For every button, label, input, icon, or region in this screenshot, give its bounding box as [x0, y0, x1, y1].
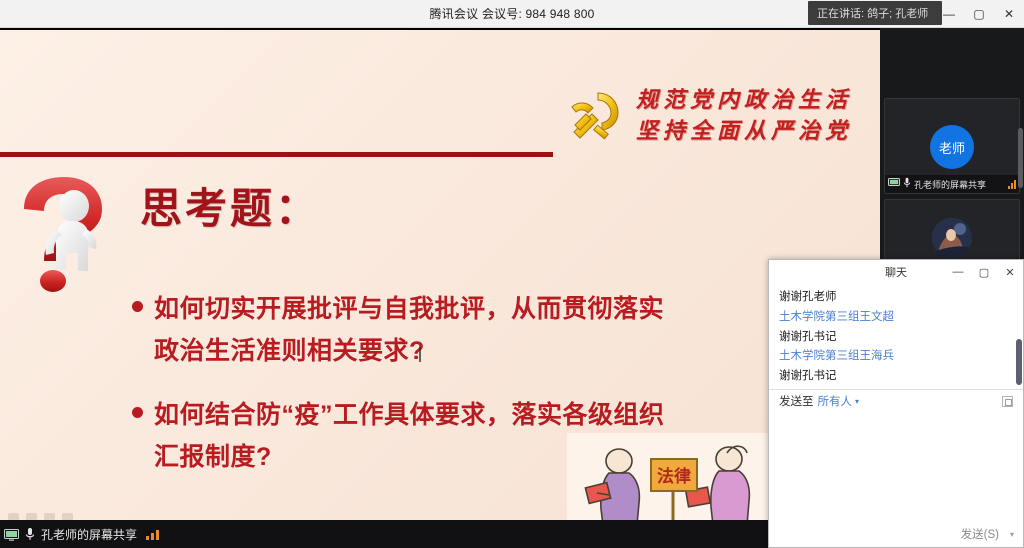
prev-slide-icon[interactable]	[8, 513, 19, 521]
chat-minimize-button[interactable]: —	[945, 260, 971, 284]
send-button[interactable]: 发送(S)	[955, 524, 1005, 544]
chat-message-sender: 土木学院第三组王文超	[779, 308, 1013, 328]
bullet-dot-icon	[132, 301, 143, 312]
video-tile-teacher[interactable]: 老师 孔老师的屏幕共享	[884, 98, 1020, 194]
microphone-icon	[24, 527, 36, 541]
cartoon-illustration-image: 法律	[567, 433, 779, 520]
video-tile-footer: 孔老师的屏幕共享	[885, 175, 1019, 193]
slideshow-mini-toolbar[interactable]	[8, 510, 86, 520]
screen-share-status-bar: 孔老师的屏幕共享	[0, 520, 880, 548]
audio-level-indicator	[1008, 180, 1016, 189]
presentation-slide: 规范党内政治生活 坚持全面从严治党	[0, 30, 880, 520]
chat-window-controls: — ▢ ✕	[945, 260, 1023, 284]
chat-message-list[interactable]: 谢谢孔老师 土木学院第三组王文超 谢谢孔书记 土木学院第三组王海兵 谢谢孔书记 …	[769, 284, 1023, 389]
slide-menu-icon[interactable]	[44, 513, 55, 521]
audio-level-indicator	[146, 528, 159, 540]
chat-message-text: 谢谢孔书记	[779, 367, 1013, 387]
slide-divider-rule	[0, 152, 553, 157]
send-options-chevron-icon[interactable]: ▾	[1007, 530, 1017, 539]
monitor-icon	[888, 175, 900, 193]
chat-message-text: 谢谢孔书记	[779, 328, 1013, 348]
chat-send-to-row[interactable]: 发送至 所有人 ▾	[769, 390, 1023, 412]
party-emblem-icon	[564, 85, 626, 147]
bullet-dot-icon	[132, 407, 143, 418]
video-tile-name: 孔老师的屏幕共享	[914, 178, 986, 191]
screen-share-label: 孔老师的屏幕共享	[41, 526, 137, 543]
banner-line-2: 坚持全面从严治党	[636, 118, 852, 146]
chat-message-sender: 土木学院第三组王海兵	[779, 347, 1013, 367]
shared-screen-stage: 规范党内政治生活 坚持全面从严治党	[0, 28, 880, 548]
chat-input[interactable]	[769, 412, 1023, 521]
speaking-indicator: 正在讲话: 鸽子; 孔老师	[808, 1, 942, 25]
avatar: 老师	[930, 125, 974, 169]
maximize-button[interactable]: ▢	[964, 0, 994, 28]
next-slide-icon[interactable]	[62, 513, 73, 521]
chat-message-sender: 土木 第七组 谷上海	[779, 387, 1013, 389]
pen-tool-icon[interactable]	[26, 513, 37, 521]
chat-message-text: 谢谢孔老师	[779, 288, 1013, 308]
expand-icon[interactable]	[1002, 396, 1013, 407]
avatar	[932, 218, 972, 258]
microphone-icon	[903, 175, 911, 193]
window-controls: — ▢ ✕	[934, 0, 1024, 28]
chevron-down-icon[interactable]: ▾	[855, 397, 859, 406]
send-to-target[interactable]: 所有人	[818, 393, 853, 409]
question-mark-figure-image	[6, 173, 128, 293]
minimize-button[interactable]: —	[934, 0, 964, 28]
close-button[interactable]: ✕	[994, 0, 1024, 28]
chat-titlebar: 聊天 — ▢ ✕	[769, 260, 1023, 284]
slide-title: 思考题：	[140, 188, 320, 230]
text-cursor	[419, 347, 421, 362]
chat-window: 聊天 — ▢ ✕ 谢谢孔老师 土木学院第三组王文超 谢谢孔书记 土木学院第三组王…	[768, 259, 1024, 548]
monitor-icon	[4, 528, 19, 540]
cartoon-sign-label: 法律	[657, 466, 691, 487]
window-title: 腾讯会议 会议号: 984 948 800	[430, 5, 595, 22]
banner-text-block: 规范党内政治生活 坚持全面从严治党	[636, 87, 852, 145]
chat-send-bar: 发送(S) ▾	[769, 521, 1023, 547]
chat-maximize-button[interactable]: ▢	[971, 260, 997, 284]
send-to-label: 发送至	[779, 393, 814, 409]
banner-line-1: 规范党内政治生活	[636, 87, 852, 115]
chat-scrollbar[interactable]	[1016, 339, 1022, 385]
chat-close-button[interactable]: ✕	[997, 260, 1023, 284]
bullet-item: 如何切实开展批评与自我批评，从而贯彻落实 政治生活准则相关要求?	[132, 288, 872, 372]
window-titlebar: 腾讯会议 会议号: 984 948 800 正在讲话: 鸽子; 孔老师 — ▢ …	[0, 0, 1024, 28]
slide-header-banner: 规范党内政治生活 坚持全面从严治党	[564, 85, 852, 147]
bullet-text-1: 如何切实开展批评与自我批评，从而贯彻落实 政治生活准则相关要求?	[154, 288, 664, 372]
video-panel-scrollbar[interactable]	[1018, 128, 1023, 188]
meeting-app-window: 腾讯会议 会议号: 984 948 800 正在讲话: 鸽子; 孔老师 — ▢ …	[0, 0, 1024, 548]
